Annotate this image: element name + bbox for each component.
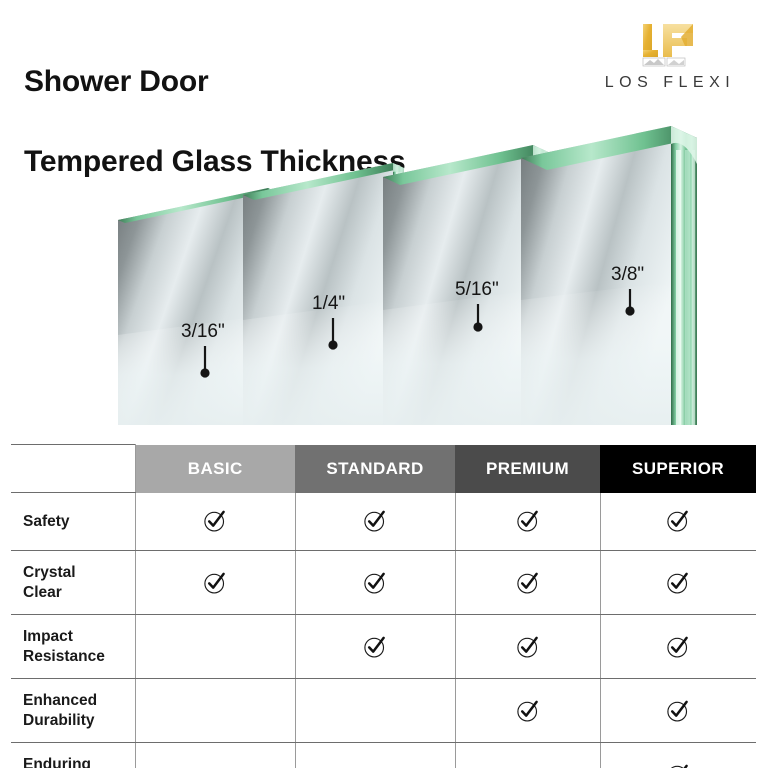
check-circle-icon: [202, 570, 228, 596]
cell-empty: [362, 695, 388, 721]
callout-label-3-8: 3/8": [611, 264, 644, 285]
infographic-page: Shower Door Tempered Glass Thickness: [0, 0, 768, 768]
cell-basic-2: [135, 615, 295, 679]
row-label-2: Impact Resistance: [11, 615, 135, 679]
lf-monogram-icon: [641, 22, 699, 67]
cell-standard-3: [295, 679, 455, 743]
brand-wordmark: LOS FLEXI: [585, 74, 755, 92]
table-row: Enduring Strength: [11, 743, 756, 768]
check-circle-icon: [665, 762, 691, 768]
table-row: Safety: [11, 493, 756, 551]
callout-dot-3-8: [625, 306, 634, 315]
glass-panels-svg: 3/16" 1/4" 5/16" 3/8": [0, 120, 768, 430]
callout-label-1-4: 1/4": [312, 293, 345, 314]
cell-empty: [515, 759, 541, 768]
column-header-premium[interactable]: PREMIUM: [455, 445, 600, 493]
cell-empty: [362, 759, 388, 768]
check-circle-icon: [515, 570, 541, 596]
check-circle-icon: [515, 698, 541, 724]
check-circle-icon: [515, 634, 541, 660]
comparison-table-container: BASIC STANDARD PREMIUM SUPERIOR SafetyCr…: [0, 444, 768, 768]
cell-empty: [202, 695, 228, 721]
cell-premium-0: [455, 493, 600, 551]
callout-dot-3-16: [200, 368, 209, 377]
check-circle-icon: [665, 570, 691, 596]
cell-standard-1: [295, 551, 455, 615]
header: Shower Door Tempered Glass Thickness: [0, 0, 768, 130]
table-body: SafetyCrystal ClearImpact ResistanceEnha…: [11, 493, 756, 768]
cell-premium-1: [455, 551, 600, 615]
cell-premium-4: [455, 743, 600, 768]
cell-premium-2: [455, 615, 600, 679]
cell-superior-2: [600, 615, 756, 679]
callout-label-3-16: 3/16": [181, 321, 225, 342]
brand-logo: LOS FLEXI: [585, 22, 755, 102]
callout-dot-1-4: [328, 340, 337, 349]
callout-dot-5-16: [473, 322, 482, 331]
glass-panel-3-8: [521, 126, 697, 425]
row-label-1: Crystal Clear: [11, 551, 135, 615]
cell-superior-1: [600, 551, 756, 615]
page-title-line-1: Shower Door: [24, 62, 405, 102]
cell-premium-3: [455, 679, 600, 743]
table-header-row: BASIC STANDARD PREMIUM SUPERIOR: [11, 445, 756, 493]
comparison-table: BASIC STANDARD PREMIUM SUPERIOR SafetyCr…: [11, 444, 756, 768]
column-header-superior[interactable]: SUPERIOR: [600, 445, 756, 493]
column-header-basic[interactable]: BASIC: [135, 445, 295, 493]
check-circle-icon: [665, 508, 691, 534]
table-row: Impact Resistance: [11, 615, 756, 679]
table-row: Crystal Clear: [11, 551, 756, 615]
cell-standard-0: [295, 493, 455, 551]
row-label-0: Safety: [11, 493, 135, 551]
cell-empty: [202, 759, 228, 768]
cell-standard-2: [295, 615, 455, 679]
column-header-standard[interactable]: STANDARD: [295, 445, 455, 493]
check-circle-icon: [362, 508, 388, 534]
row-label-4: Enduring Strength: [11, 743, 135, 768]
check-circle-icon: [515, 508, 541, 534]
cell-empty: [202, 631, 228, 657]
cell-superior-4: [600, 743, 756, 768]
table-corner-cell: [11, 445, 135, 493]
cell-standard-4: [295, 743, 455, 768]
row-label-3: Enhanced Durability: [11, 679, 135, 743]
check-circle-icon: [362, 570, 388, 596]
check-circle-icon: [202, 508, 228, 534]
check-circle-icon: [665, 634, 691, 660]
callout-label-5-16: 5/16": [455, 279, 499, 300]
cell-superior-3: [600, 679, 756, 743]
cell-basic-0: [135, 493, 295, 551]
check-circle-icon: [362, 634, 388, 660]
cell-basic-1: [135, 551, 295, 615]
check-circle-icon: [665, 698, 691, 724]
cell-basic-4: [135, 743, 295, 768]
cell-basic-3: [135, 679, 295, 743]
glass-illustration: 3/16" 1/4" 5/16" 3/8": [0, 120, 768, 430]
table-row: Enhanced Durability: [11, 679, 756, 743]
cell-superior-0: [600, 493, 756, 551]
